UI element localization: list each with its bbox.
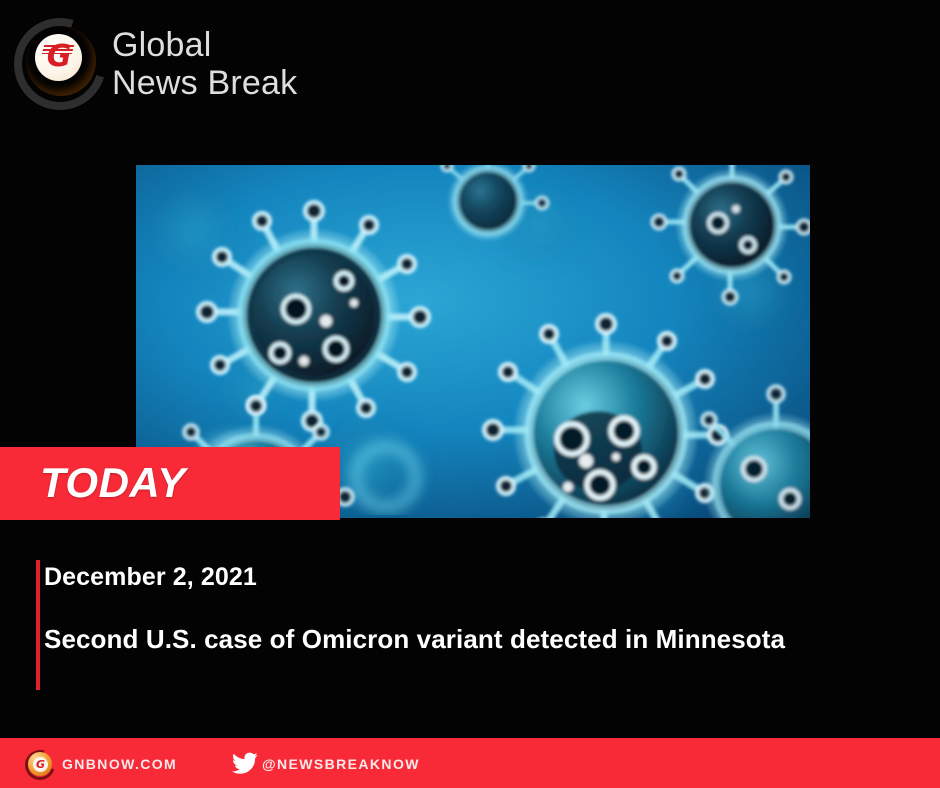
brand-header: G Global News Break: [0, 0, 940, 150]
story-headline: Second U.S. case of Omicron variant dete…: [44, 622, 904, 656]
footer-twitter-handle[interactable]: @NEWSBREAKNOW: [262, 755, 420, 773]
gnb-sphere-logo: G: [14, 18, 106, 110]
today-banner-label: TODAY: [40, 454, 186, 512]
logo-stripes-icon: [42, 45, 75, 54]
news-graphic-card: G Global News Break: [0, 0, 940, 788]
story-date: December 2, 2021: [44, 561, 257, 593]
footer-gnb-logo: G: [25, 750, 55, 780]
brand-name-line-1: Global: [112, 26, 297, 64]
twitter-bird-icon[interactable]: [232, 752, 258, 776]
footer-logo-letter: G: [36, 759, 45, 770]
footer-website-label[interactable]: GNBNOW.COM: [62, 755, 177, 773]
logo-inner-circle: G: [35, 34, 82, 81]
brand-name-line-2: News Break: [112, 64, 297, 102]
footer-logo-inner-circle: G: [33, 757, 48, 772]
story-accent-bar: [36, 560, 40, 690]
brand-name: Global News Break: [112, 26, 297, 102]
